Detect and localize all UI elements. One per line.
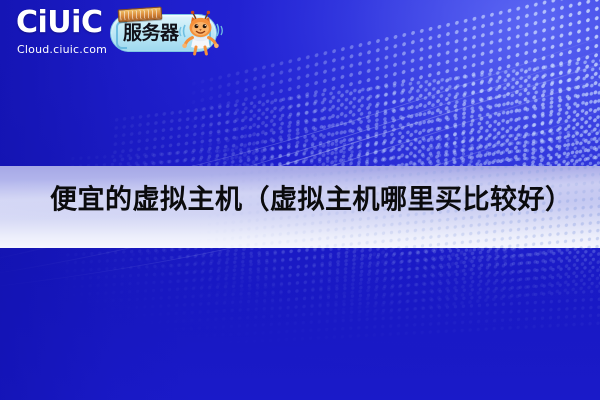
orange-cat-mascot-icon: [179, 9, 223, 57]
banner-image: CiUiC Cloud.ciuic.com 服务器: [0, 0, 600, 400]
brand-logo[interactable]: CiUiC Cloud.ciuic.com: [16, 8, 118, 55]
page-title: 便宜的虚拟主机（虚拟主机哪里买比较好）: [50, 184, 573, 215]
ribbon-stripes: [120, 9, 161, 21]
brand-url: Cloud.ciuic.com: [17, 44, 118, 55]
badge-label: 服务器: [123, 22, 179, 44]
brand-wordmark: CiUiC: [16, 8, 118, 38]
server-badge[interactable]: 服务器: [110, 14, 217, 52]
